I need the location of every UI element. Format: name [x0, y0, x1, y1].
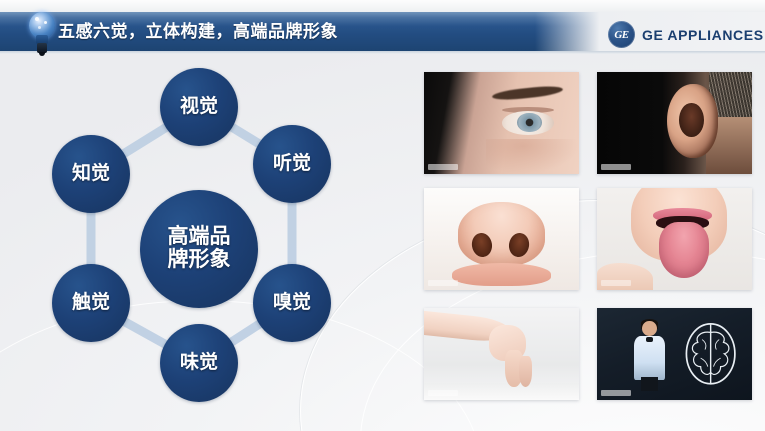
chalk-brain-icon	[675, 317, 746, 391]
brain-image	[597, 308, 752, 400]
header-underline	[0, 51, 765, 54]
node-vision-label: 视觉	[180, 97, 218, 118]
six-senses-hexagon-diagram: 视觉 听觉 嗅觉 味觉 触觉 知觉 高端品 牌形象	[10, 56, 405, 421]
node-hearing-label: 听觉	[273, 154, 311, 175]
node-taste-label: 味觉	[180, 353, 218, 374]
photo-ear[interactable]	[597, 72, 752, 174]
ge-monogram-text: GE	[608, 29, 635, 41]
person-illustration	[634, 321, 665, 391]
watermark	[601, 390, 631, 396]
tongue-image	[597, 188, 752, 290]
photo-hand[interactable]	[424, 308, 579, 400]
center-label-line1: 高端品	[162, 226, 237, 249]
node-taste[interactable]: 味觉	[160, 324, 238, 402]
node-hearing[interactable]: 听觉	[253, 125, 331, 203]
watermark	[601, 280, 631, 286]
nose-image	[424, 188, 579, 290]
page-title: 五感六觉，立体构建，高端品牌形象	[58, 16, 338, 48]
ge-appliances-logo: GE GE APPLIANCES	[608, 21, 764, 48]
node-perception[interactable]: 知觉	[52, 135, 130, 213]
photo-brain[interactable]	[597, 308, 752, 400]
node-smell[interactable]: 嗅觉	[253, 264, 331, 342]
node-perception-label: 知觉	[72, 164, 110, 185]
node-vision[interactable]: 视觉	[160, 68, 238, 146]
photo-tongue[interactable]	[597, 188, 752, 290]
senses-photo-grid	[424, 72, 754, 402]
node-touch[interactable]: 触觉	[52, 264, 130, 342]
photo-eye[interactable]	[424, 72, 579, 174]
slide-canvas: 五感六觉，立体构建，高端品牌形象 GE GE APPLIANCES 视觉 听觉 …	[0, 0, 765, 431]
lightbulb-icon	[22, 10, 62, 56]
node-smell-label: 嗅觉	[273, 293, 311, 314]
photo-nose[interactable]	[424, 188, 579, 290]
node-center-brand-image[interactable]: 高端品 牌形象	[140, 190, 258, 308]
watermark	[601, 164, 631, 170]
brand-name: GE APPLIANCES	[642, 27, 764, 43]
ear-image	[597, 72, 752, 174]
center-label-line2: 牌形象	[162, 249, 237, 272]
watermark	[428, 390, 458, 396]
watermark	[428, 164, 458, 170]
ge-monogram-icon: GE	[608, 21, 635, 48]
top-strip	[0, 0, 765, 12]
watermark	[428, 280, 458, 286]
hand-image	[424, 308, 579, 400]
eye-image	[424, 72, 579, 174]
node-touch-label: 触觉	[72, 293, 110, 314]
